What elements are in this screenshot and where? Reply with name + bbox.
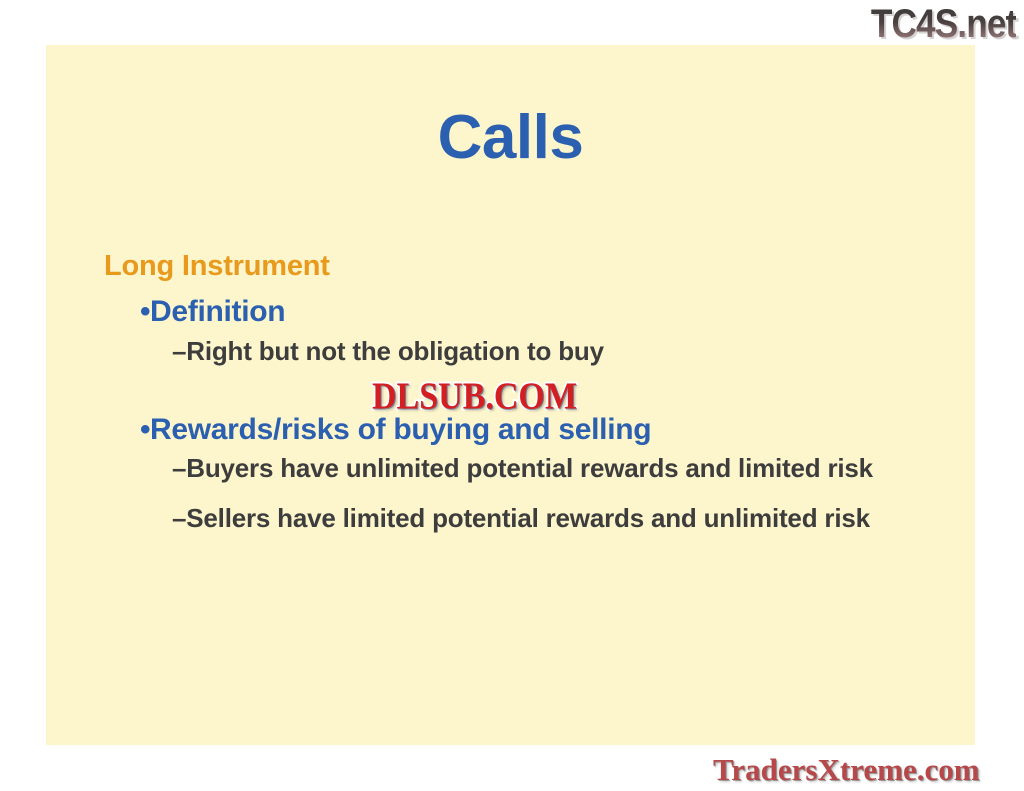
dash-icon: – <box>172 503 186 533</box>
sub-bullet-buyers-text: Buyers have unlimited potential rewards … <box>186 453 873 483</box>
site-watermark-top-right: TC4S.net <box>870 2 1016 47</box>
section-heading-long-instrument: Long Instrument <box>104 250 954 283</box>
sub-bullet-sellers-text: Sellers have limited potential rewards a… <box>186 503 870 533</box>
site-watermark-center: DLSUB.COM <box>372 376 577 419</box>
dash-icon: – <box>172 453 186 483</box>
bullet-item-definition-label: Definition <box>150 295 285 328</box>
bullet-dot-icon: • <box>140 413 150 448</box>
dash-icon: – <box>172 336 186 366</box>
slide-title: Calls <box>46 107 975 169</box>
spacer <box>104 489 954 501</box>
bullet-item-definition: • Definition <box>104 295 954 330</box>
bullet-dot-icon: • <box>140 295 150 330</box>
site-watermark-bottom-right: TradersXtreme.com <box>713 752 980 788</box>
sub-bullet-right-to-buy-text: Right but not the obligation to buy <box>186 336 604 366</box>
sub-bullet-sellers: –Sellers have limited potential rewards … <box>104 501 954 536</box>
sub-bullet-right-to-buy: –Right but not the obligation to buy <box>104 334 954 369</box>
sub-bullet-buyers: –Buyers have unlimited potential rewards… <box>104 451 954 486</box>
